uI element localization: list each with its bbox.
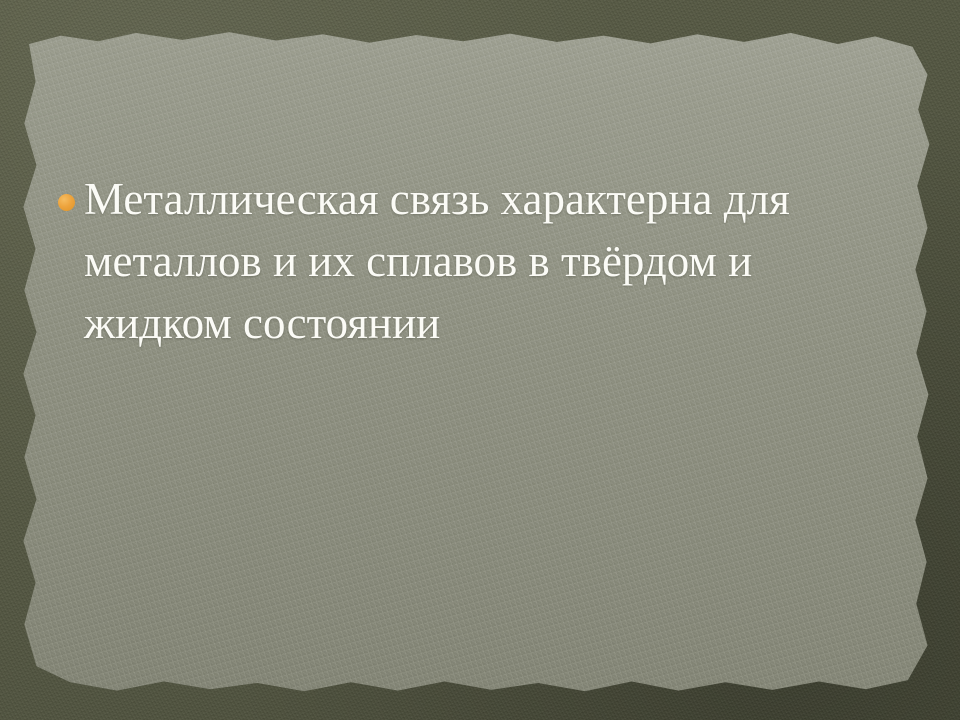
bullet-text: Металлическая связь характерна для метал…	[84, 168, 908, 354]
bullet-list-item: Металлическая связь характерна для метал…	[58, 168, 908, 354]
bullet-marker-icon	[58, 194, 75, 211]
slide-content: Металлическая связь характерна для метал…	[0, 0, 960, 720]
presentation-slide: Металлическая связь характерна для метал…	[0, 0, 960, 720]
